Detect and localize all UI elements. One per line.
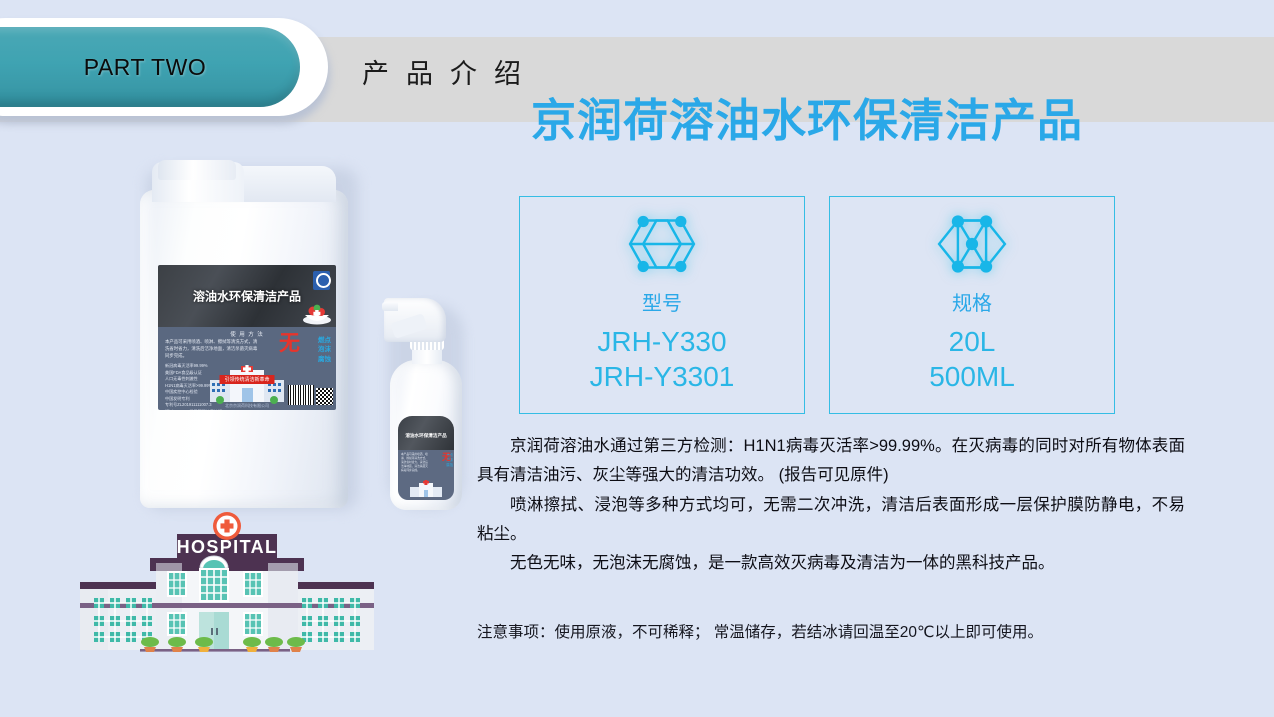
spray-bottle-product-image: 溶油水环保清洁产品 本产品可采用喷酒、喷淋、擦拭等清洗方式，清洗省时省力，清洗后…	[382, 298, 470, 513]
model-value-1: JRH-Y330	[590, 324, 735, 359]
part-label: PART TWO	[44, 54, 206, 81]
notice-text: 注意事项：使用原液，不可稀释； 常温储存，若结冰请回温至20℃以上即可使用。	[477, 620, 1043, 642]
spray-nozzle-icon	[382, 302, 398, 311]
spray-wu-char: 无	[442, 453, 451, 461]
certification-badge-icon	[313, 271, 330, 290]
jerrycan-hospital-graphic	[208, 364, 286, 404]
jerrycan-product-image: 溶油水环保清洁产品 使 用 方 法 本产品可采用喷酒、喷淋、擦拭等清洗方式，清洗…	[140, 160, 360, 510]
spray-label-desc: 本产品可采用喷酒、喷淋、擦拭等清洗方式，清洗省时省力，清洗后洁净地面，清洁杀菌灭…	[401, 453, 429, 473]
info-card-model: 型号 JRH-Y330 JRH-Y3301	[519, 196, 805, 414]
slide-root: PART TWO 产品介绍 京润荷溶油水环保清洁产品 型号 JRH-Y330 J…	[0, 0, 1274, 717]
jerrycan-wu-char: 无	[279, 335, 300, 353]
hospital-illustration: HOSPITAL	[72, 506, 382, 674]
jerrycan-label-bottom: 使 用 方 法 本产品可采用喷酒、喷淋、擦拭等清洗方式，清洗省时省力，清洗后洁净…	[158, 327, 336, 410]
spec-value-1: 20L	[929, 324, 1015, 359]
part-pill: PART TWO	[0, 27, 300, 107]
info-card-model-label: 型号	[642, 287, 682, 316]
barcode-icon	[288, 385, 314, 405]
description-paragraph-1: 京润荷溶油水通过第三方检测：H1N1病毒灭活率>99.99%。在灭病毒的同时对所…	[477, 432, 1185, 491]
jerrycan-label-top: 溶油水环保清洁产品	[158, 265, 336, 327]
info-card-spec-label: 规格	[952, 287, 992, 316]
spray-label-bottom: 本产品可采用喷酒、喷淋、擦拭等清洗方式，清洗省时省力，清洗后洁净地面，清洁杀菌灭…	[398, 450, 454, 500]
page-title: 京润荷溶油水环保清洁产品	[531, 84, 1083, 149]
spray-bottle-neck	[412, 348, 442, 364]
description-paragraph-2: 喷淋擦拭、浸泡等多种方式均可，无需二次冲洗，清洁后表面形成一层保护膜防静电，不易…	[477, 491, 1185, 550]
description-text: 京润荷溶油水通过第三方检测：H1N1病毒灭活率>99.99%。在灭病毒的同时对所…	[477, 432, 1185, 579]
double-hexagon-node-icon	[614, 213, 710, 275]
spray-hospital-graphic	[409, 480, 443, 498]
jerrycan-cap	[158, 160, 236, 180]
jerrycan-wu-list: 燃点 泡沫 腐蚀	[318, 336, 331, 364]
spray-label-top: 溶油水环保清洁产品	[398, 416, 454, 450]
spray-bottle-label: 溶油水环保清洁产品 本产品可采用喷酒、喷淋、擦拭等清洗方式，清洗省时省力，清洗后…	[398, 416, 454, 500]
plate-cross-icon	[302, 301, 332, 325]
description-paragraph-3: 无色无味，无泡沫无腐蚀，是一款高效灭病毒及清洁为一体的黑科技产品。	[477, 549, 1185, 578]
jerrycan-label: 溶油水环保清洁产品 使 用 方 法 本产品可采用喷酒、喷淋、擦拭等清洗方式，清洗…	[158, 265, 336, 410]
qr-code-icon	[316, 388, 333, 405]
jerrycan-label-title: 溶油水环保清洁产品	[193, 288, 301, 305]
jerrycan-usage-heading: 使 用 方 法	[158, 330, 336, 338]
hexagon-network-node-icon	[924, 213, 1020, 275]
jerrycan-slogan-banner: 引领传统清洁新革命	[219, 375, 274, 384]
jerrycan-usage-desc: 本产品可采用喷酒、喷淋、擦拭等清洗方式，清洗省时省力，清洗后洁净地面，清洁杀菌灭…	[165, 339, 261, 359]
jerrycan-handle	[240, 166, 336, 202]
jerrycan-company-name: 北京京润荷科技有限公司	[225, 403, 269, 409]
section-heading-cn: 产品介绍	[362, 52, 538, 91]
info-card-spec-values: 20L 500ML	[929, 324, 1015, 394]
spray-label-title: 溶油水环保清洁产品	[405, 433, 446, 439]
info-card-spec: 规格 20L 500ML	[829, 196, 1115, 414]
info-card-model-values: JRH-Y330 JRH-Y3301	[590, 324, 735, 394]
spec-value-2: 500ML	[929, 359, 1015, 394]
model-value-2: JRH-Y3301	[590, 359, 735, 394]
